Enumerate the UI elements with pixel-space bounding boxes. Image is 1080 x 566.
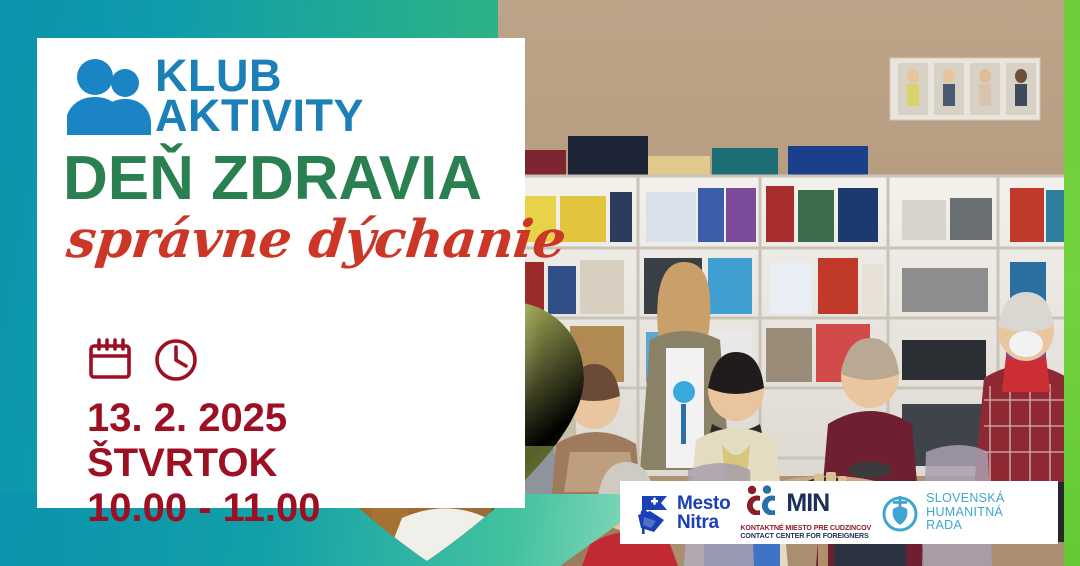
brand-line-2: AKTIVITY xyxy=(155,96,364,136)
page-subtitle: správne dýchanie xyxy=(64,214,529,266)
logo-cmin: MIN KONTAKTNÉ MIESTO PRE CUDZINCOV CONTA… xyxy=(740,485,871,541)
event-date: 13. 2. 2025 xyxy=(87,396,321,441)
event-time: 10.00 - 11.00 xyxy=(87,486,321,531)
logo-slovenska-humanitna-rada: SLOVENSKÁ HUMANITNÁ RADA xyxy=(881,492,1004,533)
nitra-banner-icon xyxy=(634,490,670,536)
shr-circle-icon xyxy=(881,493,919,533)
shr-line-3: RADA xyxy=(926,519,1004,533)
mesto-nitra-line-2: Nitra xyxy=(677,513,730,532)
partner-logo-bar: Mesto Nitra MIN KONTAKTNÉ MIESTO PRE CUD… xyxy=(620,481,1058,544)
cmin-wordmark: MIN xyxy=(786,492,829,515)
schedule-icons xyxy=(87,336,199,382)
calendar-icon xyxy=(87,336,133,382)
content-card: KLUB AKTIVITY DEŇ ZDRAVIA správne dýchan… xyxy=(37,38,525,508)
cmin-people-icon xyxy=(740,485,786,515)
cmin-subline-2: CONTACT CENTER FOR FOREIGNERS xyxy=(740,532,871,540)
shr-line-1: SLOVENSKÁ xyxy=(926,492,1004,506)
green-edge-stripe xyxy=(1064,0,1080,566)
event-day: ŠTVRTOK xyxy=(87,441,321,486)
page-title: DEŇ ZDRAVIA xyxy=(63,148,503,210)
schedule-details: 13. 2. 2025 ŠTVRTOK 10.00 - 11.00 xyxy=(87,396,321,530)
clock-icon xyxy=(153,336,199,382)
klub-aktivity-logo: KLUB AKTIVITY xyxy=(67,56,364,135)
cmin-subline-1: KONTAKTNÉ MIESTO PRE CUDZINCOV xyxy=(740,524,871,532)
mesto-nitra-line-1: Mesto xyxy=(677,494,730,513)
logo-mesto-nitra: Mesto Nitra xyxy=(634,490,730,536)
poster-canvas: KLUB AKTIVITY DEŇ ZDRAVIA správne dýchan… xyxy=(0,0,1080,566)
shr-line-2: HUMANITNÁ xyxy=(926,506,1004,520)
two-people-icon xyxy=(67,57,159,135)
